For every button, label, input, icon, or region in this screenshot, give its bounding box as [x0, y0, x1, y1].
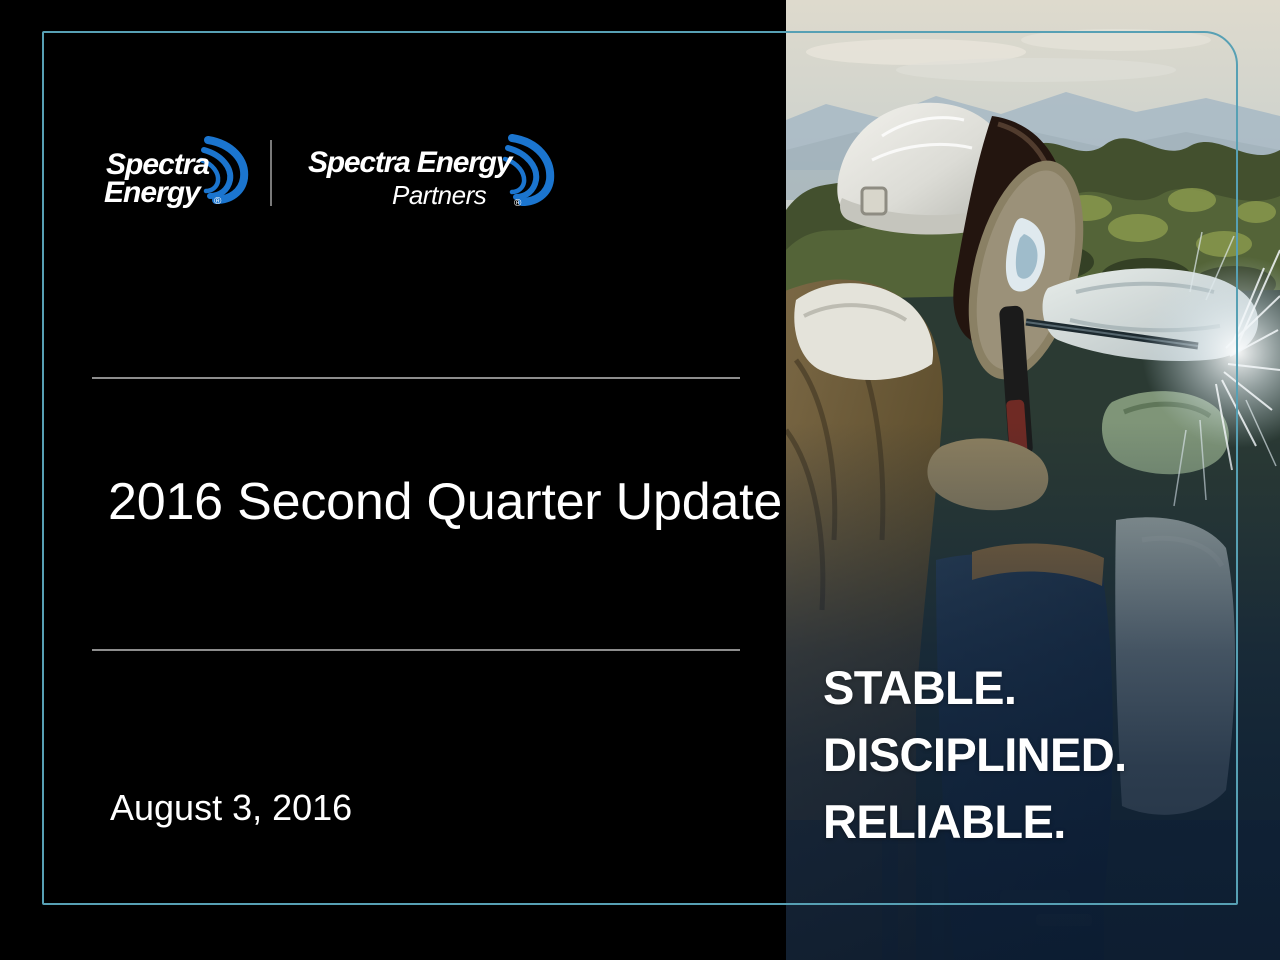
logo-divider	[270, 140, 272, 206]
logo-lockup: Spectra Energy ® Spectra Energy Partners	[104, 128, 556, 218]
tagline-line-2: DISCIPLINED.	[823, 721, 1253, 788]
tagline-line-1: STABLE.	[823, 654, 1253, 721]
tagline-line-3: RELIABLE.	[823, 788, 1253, 855]
divider-rule-top	[92, 377, 740, 379]
spectra-energy-partners-logo: Spectra Energy Partners ®	[306, 130, 556, 216]
presentation-slide: Spectra Energy ® Spectra Energy Partners	[0, 0, 1280, 960]
svg-text:®: ®	[214, 196, 222, 207]
svg-text:Energy: Energy	[104, 176, 202, 209]
page-title: 2016 Second Quarter Update	[108, 474, 768, 531]
slide-date: August 3, 2016	[110, 788, 352, 828]
spectra-energy-logo: Spectra Energy ®	[104, 130, 252, 216]
svg-text:Spectra Energy: Spectra Energy	[308, 146, 514, 179]
svg-text:Partners: Partners	[392, 180, 487, 210]
svg-text:®: ®	[514, 198, 522, 209]
tagline: STABLE. DISCIPLINED. RELIABLE.	[823, 654, 1253, 856]
divider-rule-bottom	[92, 649, 740, 651]
